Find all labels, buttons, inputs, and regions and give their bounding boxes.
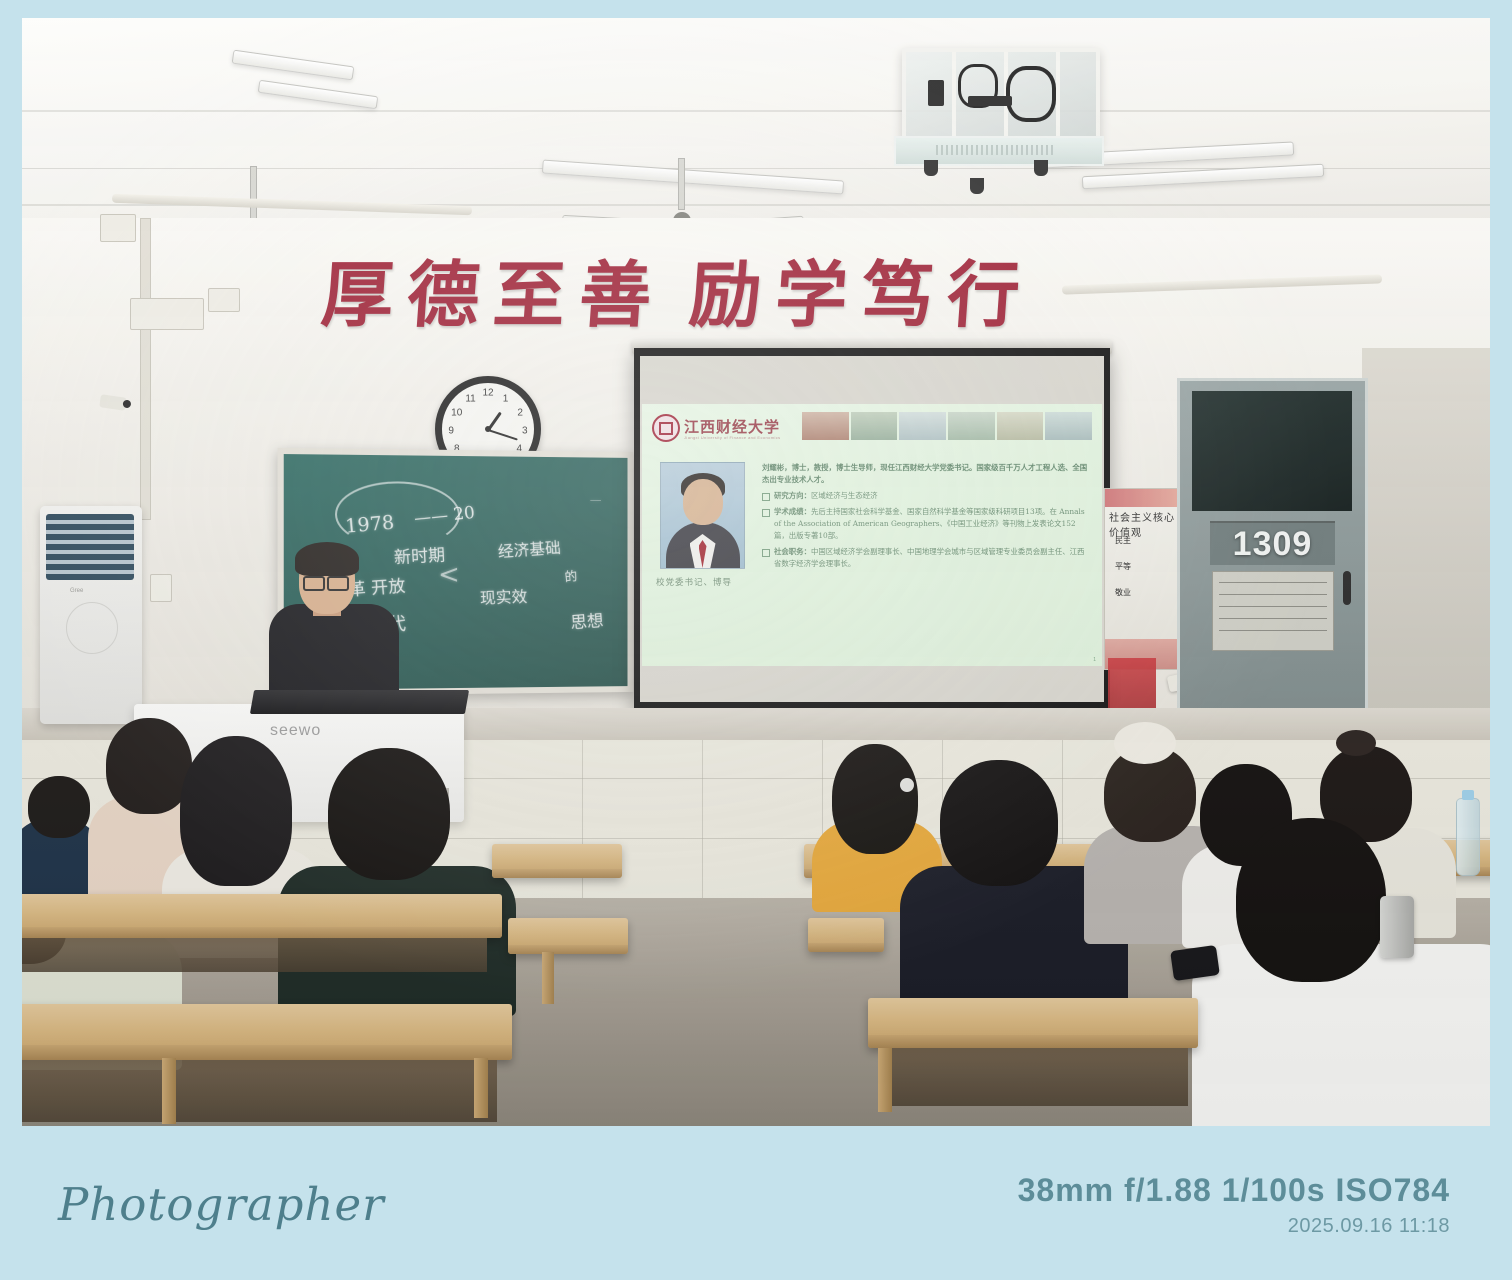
- poster-word: 敬业: [1115, 587, 1131, 598]
- fan-rod: [250, 166, 257, 220]
- wall-speaker: [130, 298, 204, 330]
- wall-calligraphy-left: 厚德至善: [318, 236, 669, 341]
- photographer-signature: Photographer: [58, 1178, 385, 1231]
- campus-photo-strip: [802, 412, 1092, 440]
- exif-datetime: 2025.09.16 11:18: [1018, 1215, 1450, 1238]
- desk-leg: [162, 1058, 176, 1124]
- door-window: [1192, 391, 1352, 511]
- slide-intro-text: 刘耀彬，博士，教授，博士生导师，现任江西财经大学党委书记。国家级百千万人才工程人…: [762, 462, 1088, 486]
- slide-bullet: 社会职务：中国区域经济学会副理事长、中国地理学会城市与区域管理专业委员会副主任、…: [762, 546, 1088, 570]
- projector-cage: [902, 48, 1100, 148]
- student-desk: [808, 918, 884, 952]
- air-conditioner: Gree: [40, 506, 142, 724]
- student-desk: [22, 1004, 512, 1060]
- door-schedule-sign: [1212, 571, 1334, 651]
- bullet-text: 中国区域经济学会副理事长、中国地理学会城市与区域管理专业委员会副主任、江西省数字…: [774, 547, 1084, 568]
- podium-monitor: [250, 690, 469, 714]
- wall-calligraphy-right: 励学笃行: [686, 236, 1037, 341]
- desk-leg: [878, 1048, 892, 1112]
- desk-leg: [542, 952, 554, 1004]
- exif-block: 38mm f/1.88 1/100s ISO784 2025.09.16 11:…: [1018, 1172, 1450, 1238]
- room-number-sign: 1309: [1210, 521, 1335, 565]
- wall-conduit: [140, 218, 151, 520]
- slide-page-number: 1: [1093, 657, 1096, 663]
- bullet-label: 社会职务：: [774, 547, 811, 556]
- projector-foot: [1034, 160, 1048, 176]
- fan-rod: [678, 158, 685, 210]
- lecturer: [269, 548, 399, 708]
- slide-bullet: 研究方向：区域经济与生态经济: [762, 490, 1088, 502]
- bullet-text: 先后主持国家社会科学基金、国家自然科学基金等国家级科研项目13项。在 Annal…: [774, 507, 1085, 540]
- light-switch[interactable]: [150, 574, 172, 602]
- bullet-square-icon: [762, 509, 770, 517]
- student-figure: [822, 744, 932, 894]
- projector-foot: [924, 160, 938, 176]
- bullet-text: 区域经济与生态经济: [811, 491, 878, 500]
- wall-junction-box: [100, 214, 136, 242]
- speaker-portrait: [660, 462, 745, 569]
- slide-bullet: 学术成绩：先后主持国家社会科学基金、国家自然科学基金等国家级科研项目13项。在 …: [762, 506, 1088, 542]
- speaker-caption: 校党委书记、博导: [656, 576, 732, 588]
- exif-settings: 38mm f/1.88 1/100s ISO784: [1018, 1172, 1450, 1209]
- side-wall: [1362, 348, 1490, 768]
- clock-minute-hand: [488, 429, 518, 440]
- desk-leg: [474, 1058, 488, 1118]
- ac-brand-label: Gree: [70, 588, 83, 594]
- student-desk: [22, 894, 502, 938]
- projection-screen: 江西财经大学 Jiangxi University of Finance and…: [634, 348, 1110, 710]
- door-handle[interactable]: [1343, 571, 1351, 605]
- student-desk: [508, 918, 628, 954]
- student-figure: [1208, 818, 1490, 1126]
- student-desk: [492, 844, 622, 878]
- presentation-slide: 江西财经大学 Jiangxi University of Finance and…: [642, 404, 1102, 666]
- slide-header: 江西财经大学 Jiangxi University of Finance and…: [642, 404, 1102, 464]
- wall-socket: [208, 288, 240, 312]
- poster-word: 民主: [1115, 535, 1131, 546]
- bullet-label: 学术成绩：: [774, 507, 811, 516]
- slide-body: 刘耀彬，博士，教授，博士生导师，现任江西财经大学党委书记。国家级百千万人才工程人…: [762, 462, 1088, 570]
- bullet-square-icon: [762, 493, 770, 501]
- university-logo-icon: [652, 414, 680, 442]
- smartphone[interactable]: [1170, 945, 1220, 981]
- projector-foot: [970, 178, 984, 194]
- photograph: 厚德至善 励学笃行 12 1 2 3 4 5 6 7 8 9 10 11 197…: [22, 18, 1490, 1126]
- ceiling-seam: [22, 110, 1490, 112]
- classroom-door[interactable]: 1309: [1177, 378, 1368, 734]
- university-name-en: Jiangxi University of Finance and Econom…: [684, 435, 781, 440]
- photo-frame: 厚德至善 励学笃行 12 1 2 3 4 5 6 7 8 9 10 11 197…: [0, 0, 1512, 1280]
- student-desk: [868, 998, 1198, 1048]
- bullet-label: 研究方向：: [774, 491, 811, 500]
- poster-word: 平等: [1115, 561, 1131, 572]
- student-figure: [922, 760, 1102, 1000]
- vacuum-tumbler: [1380, 896, 1414, 958]
- core-values-poster: 社会主义核心价值观 民主 平等 敬业: [1104, 488, 1178, 670]
- university-name: 江西财经大学: [684, 416, 780, 437]
- bullet-square-icon: [762, 549, 770, 557]
